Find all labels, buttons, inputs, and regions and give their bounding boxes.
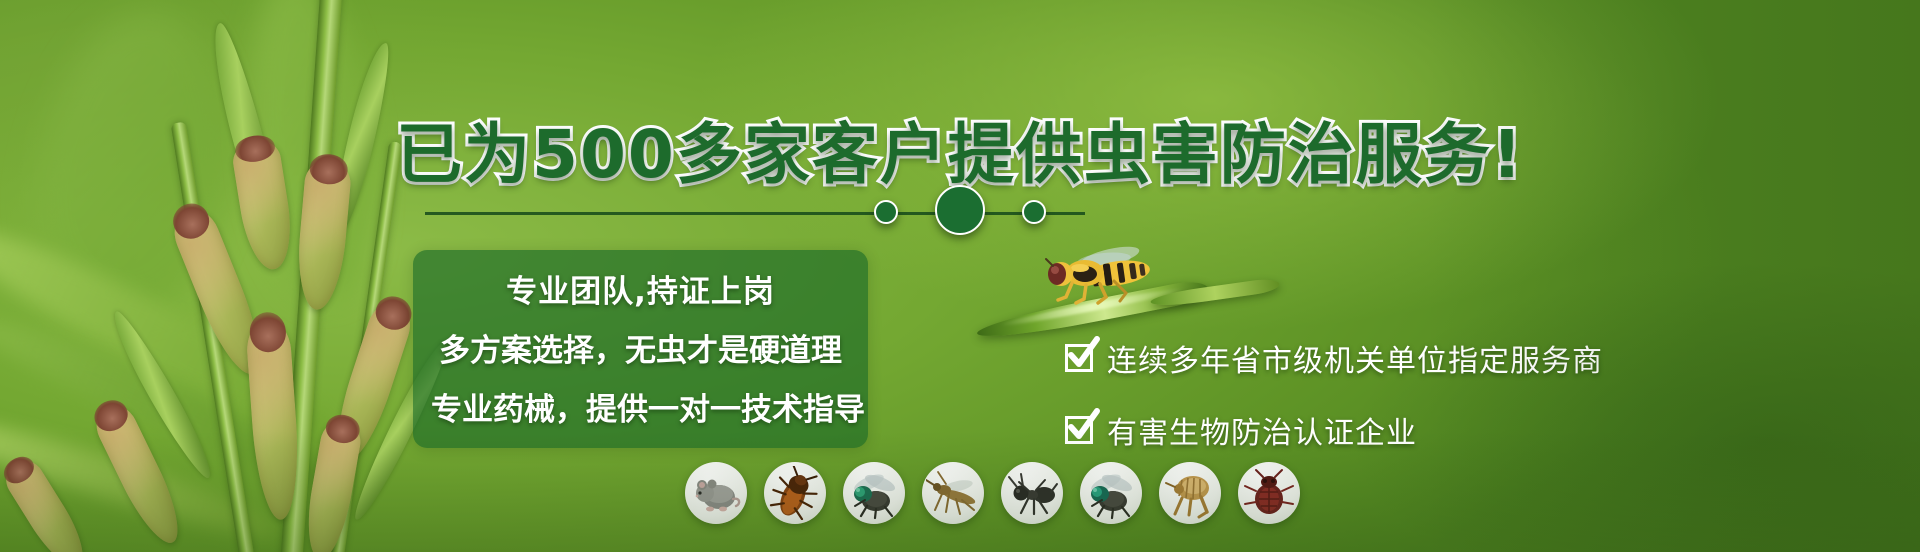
divider <box>425 212 1085 215</box>
credential-label: 连续多年省市级机关单位指定服务商 <box>1107 336 1603 380</box>
pest-chip-blowfly[interactable] <box>1080 462 1142 524</box>
pest-control-hero-banner: 已为500多家客户提供虫害防治服务! 专业团队,持证上岗 多方案选择，无虫才是硬… <box>0 0 1920 552</box>
page-title-text: 已为500多家客户提供虫害防治服务! <box>396 116 1524 193</box>
promise-line: 专业药械，提供一对一技术指导 <box>431 384 850 429</box>
credential-label: 有害生物防治认证企业 <box>1107 408 1417 452</box>
check-box-icon <box>1065 344 1093 372</box>
check-box-icon <box>1065 416 1093 444</box>
pest-chip-ant[interactable] <box>1001 462 1063 524</box>
pest-chip-cockroach[interactable] <box>764 462 826 524</box>
decorative-dot-small-left <box>874 200 898 224</box>
pest-chip-mosquito[interactable] <box>922 462 984 524</box>
credential-item: 连续多年省市级机关单位指定服务商 <box>1065 336 1603 380</box>
pest-chip-rodent[interactable] <box>685 462 747 524</box>
pest-chip-flea[interactable] <box>1159 462 1221 524</box>
credential-list: 连续多年省市级机关单位指定服务商 有害生物防治认证企业 <box>1065 336 1603 452</box>
pest-icon-strip <box>685 462 1300 524</box>
promise-line: 多方案选择，无虫才是硬道理 <box>431 325 850 370</box>
credential-item: 有害生物防治认证企业 <box>1065 408 1603 452</box>
hoverfly-icon <box>1040 243 1165 305</box>
page-title: 已为500多家客户提供虫害防治服务! <box>0 122 1920 188</box>
decorative-dot-small-right <box>1022 200 1046 224</box>
pest-chip-fly[interactable] <box>843 462 905 524</box>
pest-chip-bedbug[interactable] <box>1238 462 1300 524</box>
promise-line: 专业团队,持证上岗 <box>431 266 850 311</box>
decorative-dot-large <box>935 185 985 235</box>
promise-list: 专业团队,持证上岗 多方案选择，无虫才是硬道理 专业药械，提供一对一技术指导 <box>413 250 868 448</box>
